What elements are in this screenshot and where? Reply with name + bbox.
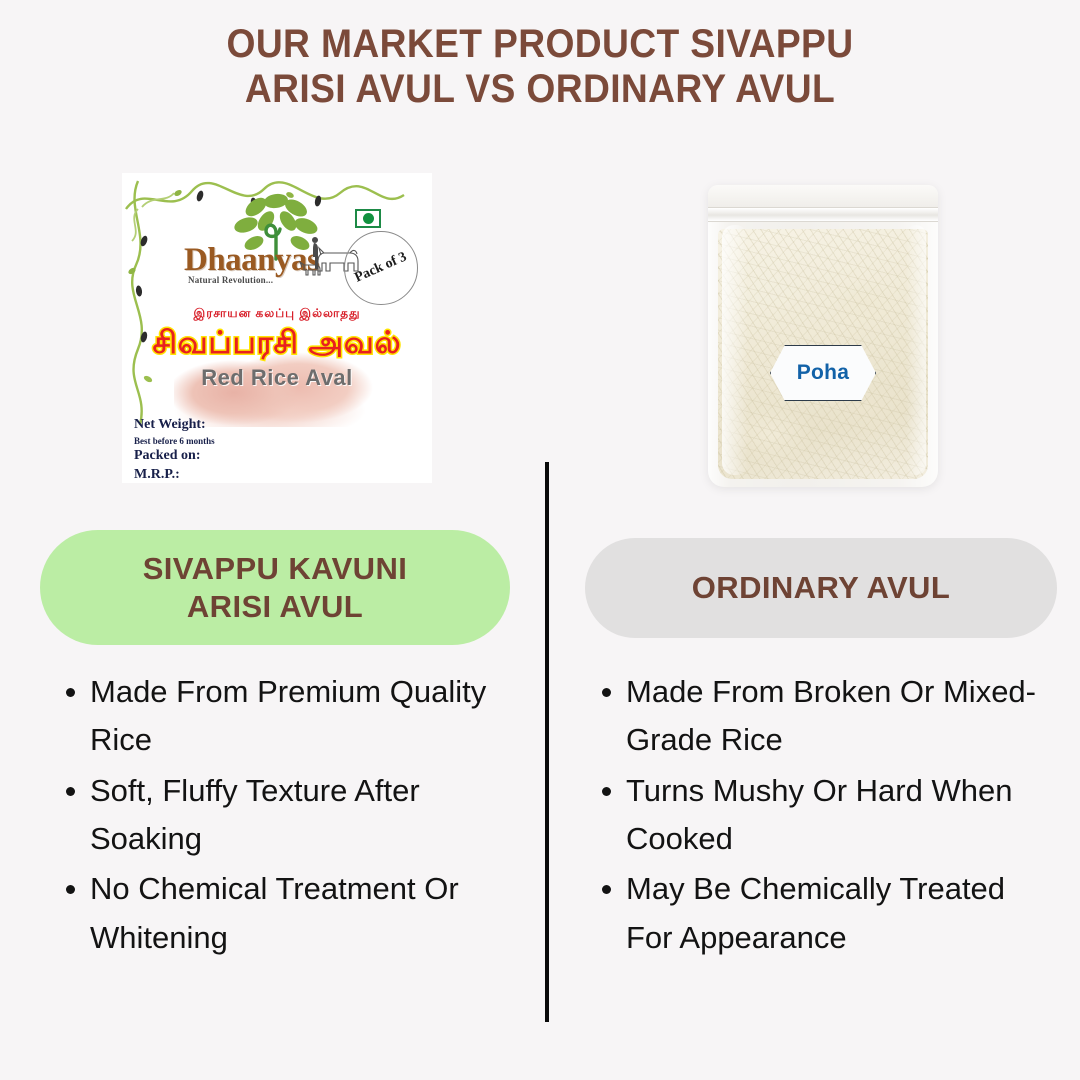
- list-item: Made From Premium Quality Rice: [56, 668, 526, 765]
- left-product-feature-list: Made From Premium Quality Rice Soft, Flu…: [56, 668, 526, 964]
- pouch-gloss-right: [906, 225, 926, 475]
- transparent-pouch: Poha: [708, 185, 938, 487]
- left-bullet-text: No Chemical Treatment Or Whitening: [90, 871, 459, 954]
- right-product-package-image: Poha: [702, 185, 944, 487]
- list-item: May Be Chemically Treated For Appearance: [592, 865, 1054, 962]
- list-item: No Chemical Treatment Or Whitening: [56, 865, 526, 962]
- list-item: Soft, Fluffy Texture After Soaking: [56, 767, 526, 864]
- right-product-heading-text: ORDINARY AVUL: [692, 569, 950, 607]
- pouch-gloss-left: [722, 225, 748, 475]
- net-weight-label: Net Weight:: [134, 416, 215, 435]
- tamil-subtitle: இரசாயன கலப்பு இல்லாதது: [122, 306, 432, 322]
- left-heading-line-1: SIVAPPU KAVUNI: [143, 551, 408, 586]
- poha-label-badge: Poha: [770, 345, 876, 401]
- brand-tagline: Natural Revolution...: [188, 275, 273, 285]
- vegetarian-mark-icon: [355, 209, 381, 228]
- product-image-row: Dhaanyas Natural Revolution... Pack of 3…: [0, 165, 1080, 495]
- poha-label-text: Poha: [797, 361, 850, 385]
- tamil-product-title: சிவப்பரசி அவல்: [122, 325, 432, 365]
- veg-dot-icon: [363, 213, 374, 224]
- left-product-heading-text: SIVAPPU KAVUNI ARISI AVUL: [143, 550, 408, 626]
- left-heading-line-2: ARISI AVUL: [187, 589, 363, 624]
- mrp-label: M.R.P.:: [134, 466, 215, 483]
- list-item: Made From Broken Or Mixed-Grade Rice: [592, 668, 1054, 765]
- left-product-heading-pill: SIVAPPU KAVUNI ARISI AVUL: [40, 530, 510, 645]
- pack-of-3-label: Pack of 3: [353, 249, 410, 286]
- left-product-package-image: Dhaanyas Natural Revolution... Pack of 3…: [122, 173, 432, 483]
- vine-decoration-left-icon: [122, 179, 178, 429]
- pouch-top-seal: [708, 185, 938, 207]
- title-line-1: OUR MARKET PRODUCT SIVAPPU: [38, 22, 1042, 67]
- right-bullet-text: Turns Mushy Or Hard When Cooked: [626, 773, 1012, 856]
- packed-on-label: Packed on:: [134, 447, 215, 466]
- package-info-block: Net Weight: Best before 6 months Packed …: [134, 416, 215, 483]
- pack-of-3-badge: Pack of 3: [344, 231, 418, 305]
- vertical-divider: [545, 462, 549, 1022]
- pouch-ziplock: [708, 207, 938, 222]
- english-product-title: Red Rice Aval: [122, 365, 432, 391]
- right-bullet-text: May Be Chemically Treated For Appearance: [626, 871, 1005, 954]
- right-product-feature-list: Made From Broken Or Mixed-Grade Rice Tur…: [592, 668, 1054, 964]
- list-item: Turns Mushy Or Hard When Cooked: [592, 767, 1054, 864]
- title-line-2: ARISI AVUL VS ORDINARY AVUL: [38, 67, 1042, 112]
- page-title: OUR MARKET PRODUCT SIVAPPU ARISI AVUL VS…: [0, 22, 1080, 112]
- left-bullet-text: Made From Premium Quality Rice: [90, 674, 486, 757]
- right-bullet-text: Made From Broken Or Mixed-Grade Rice: [626, 674, 1036, 757]
- left-bullet-text: Soft, Fluffy Texture After Soaking: [90, 773, 420, 856]
- right-product-heading-pill: ORDINARY AVUL: [585, 538, 1057, 638]
- best-before-label: Best before 6 months: [134, 435, 215, 448]
